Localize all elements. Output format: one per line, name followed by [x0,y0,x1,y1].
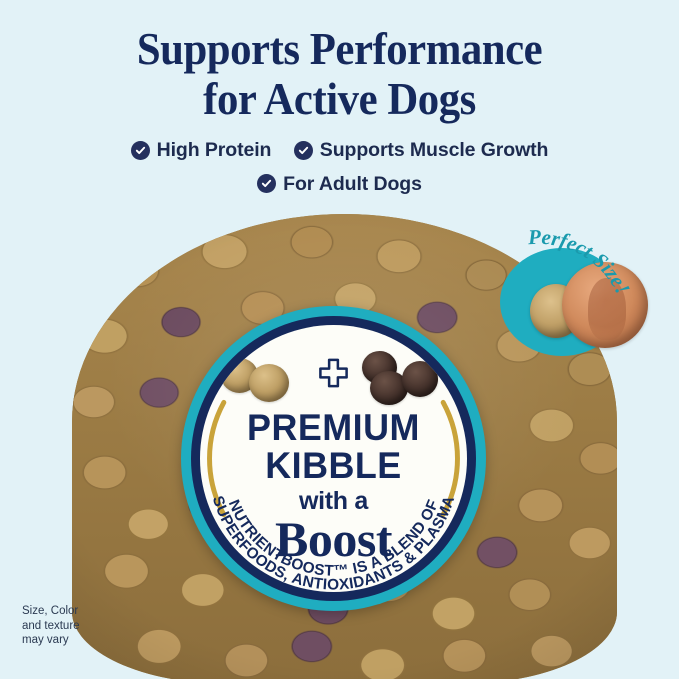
bullet-supports-muscle-growth: Supports Muscle Growth [294,134,549,166]
check-circle-icon [131,141,150,160]
bullet-for-adult-dogs: For Adult Dogs [257,168,422,200]
perfect-size-label: Perfect Size! [496,206,646,356]
check-circle-icon [257,174,276,193]
infographic-canvas: Supports Performance for Active Dogs Hig… [0,0,679,679]
disclaimer-line-3: may vary [22,633,80,648]
perfect-size-text: Perfect Size! [526,225,635,298]
bullet-label: Supports Muscle Growth [320,134,549,166]
disclaimer-text: Size, Color and texture may vary [22,604,80,648]
badge-navy-ring: PREMIUM KIBBLE with a Boost NUTRIENTBOOS… [191,316,476,601]
disclaimer-line-1: Size, Color [22,604,80,619]
bullet-row-2: For Adult Dogs [0,168,679,202]
page-title: Supports Performance for Active Dogs [24,24,655,124]
badge-content: PREMIUM KIBBLE with a Boost NUTRIENTBOOS… [200,325,467,592]
bullet-label: High Protein [157,134,272,166]
bullet-label: For Adult Dogs [283,168,422,200]
svg-text:SUPERFOODS, ANTIOXIDANTS & PLA: SUPERFOODS, ANTIOXIDANTS & PLASMA [209,494,459,592]
bullet-high-protein: High Protein [131,134,272,166]
svg-text:Perfect Size!: Perfect Size! [526,225,635,298]
check-circle-icon [294,141,313,160]
feature-bullet-list: High Protein Supports Muscle Growth For … [0,134,679,201]
badge-arc-text: NUTRIENTBOOST™ IS A BLEND OF SUPERFOODS,… [200,325,467,592]
bullet-row-1: High Protein Supports Muscle Growth [0,134,679,168]
premium-kibble-badge: PREMIUM KIBBLE with a Boost NUTRIENTBOOS… [181,306,486,611]
headline-line-1: Supports Performance [137,23,542,74]
perfect-size-callout: Perfect Size! [496,206,646,356]
badge-face: PREMIUM KIBBLE with a Boost NUTRIENTBOOS… [200,325,467,592]
headline-line-2: for Active Dogs [24,74,655,124]
disclaimer-line-2: and texture [22,619,80,634]
arc-text-outer: SUPERFOODS, ANTIOXIDANTS & PLASMA [209,494,459,592]
